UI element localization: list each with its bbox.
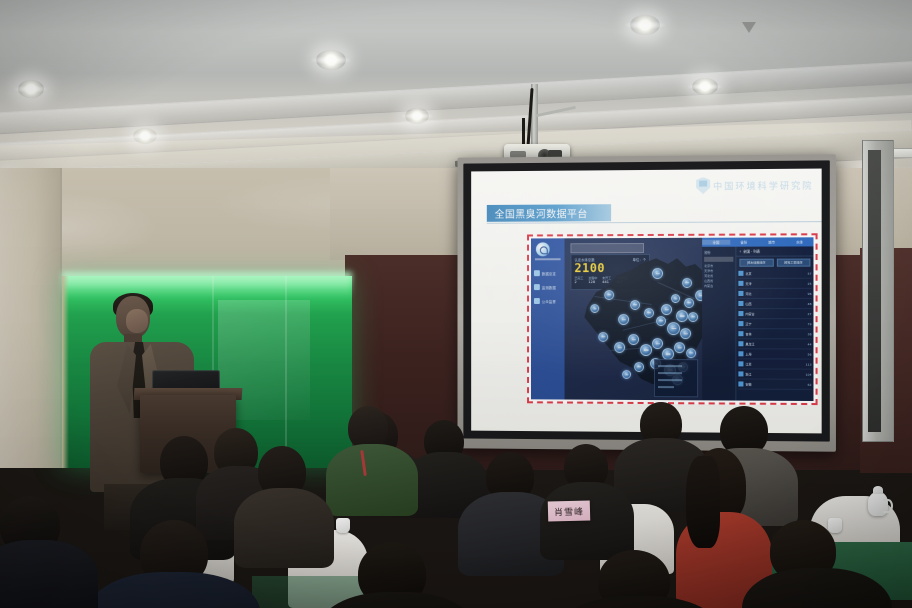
tab-province[interactable]: 省份 [730, 240, 758, 245]
app-brand-underline [535, 258, 561, 260]
audience-shoulders-photographer [326, 444, 418, 516]
row-name: 北京 [745, 271, 805, 275]
map-marker[interactable] [590, 304, 599, 313]
filter-item[interactable]: 内蒙古 [704, 284, 733, 289]
app-map-area[interactable]: 认定水体总数 单位：个 2100 已完工 2 [565, 238, 703, 401]
map-legend [654, 359, 698, 397]
list-item[interactable]: 安徽62 [738, 379, 811, 389]
province-list[interactable]: 北京57 天津25 河北96 山西48 内蒙古27 辽宁79 吉林38 黑龙江4… [736, 269, 813, 401]
legend-line [658, 372, 682, 374]
map-marker[interactable] [686, 348, 696, 358]
app-sidebar: 数据总览 监测数据 公众监督 [531, 238, 565, 399]
row-name: 安徽 [745, 382, 805, 386]
map-marker[interactable] [634, 362, 644, 372]
stat-breakdown-item: 已完工 2 [574, 276, 583, 284]
sort-by-rate-button[interactable]: 按完工率排序 [776, 259, 810, 267]
detail-panel: ‹ 全国 · 列表 按水体数排序 按完工率排序 北京57 [736, 246, 813, 401]
ceiling [0, 0, 912, 175]
downlight [316, 50, 346, 70]
chart-icon [534, 270, 540, 276]
row-icon [738, 351, 743, 356]
app-logo-icon [536, 242, 550, 256]
tab-city[interactable]: 城市 [758, 239, 786, 244]
row-value: 38 [808, 332, 812, 336]
sidebar-item-overview[interactable]: 数据总览 [534, 268, 564, 278]
map-marker[interactable] [656, 316, 666, 326]
map-marker[interactable] [622, 370, 631, 379]
sort-by-count-button[interactable]: 按水体数排序 [739, 259, 773, 267]
row-name: 江苏 [745, 362, 803, 366]
presenter-face [126, 309, 148, 333]
list-item[interactable]: 江苏113 [738, 359, 811, 369]
map-marker[interactable] [661, 304, 672, 315]
green-panel-glow [62, 272, 352, 298]
list-item[interactable]: 辽宁79 [738, 319, 811, 329]
row-icon [738, 271, 743, 276]
row-value: 79 [808, 322, 812, 326]
row-icon [738, 341, 743, 346]
right-columns: 省份 北京市 天津市 河北省 山西省 内蒙古 [702, 246, 813, 401]
slide-logo: 中国环境科学研究院 [696, 175, 813, 196]
app-tab-bar: 全国 省份 城市 水体 [702, 237, 813, 246]
map-marker[interactable] [671, 294, 680, 303]
audience-area [0, 400, 912, 608]
slide-title-bar: 全国黑臭河数据平台 [487, 204, 611, 222]
conference-photo-scene: 中国环境科学研究院 全国黑臭河数据平台 [0, 0, 912, 608]
teapot [868, 492, 888, 516]
filter-selected[interactable] [704, 257, 733, 262]
map-marker[interactable] [695, 290, 702, 301]
row-icon [738, 291, 743, 296]
row-value: 104 [806, 372, 812, 376]
map-marker[interactable] [684, 298, 694, 308]
map-marker[interactable] [644, 308, 654, 318]
sidebar-item-label: 公众监督 [542, 299, 556, 304]
map-marker[interactable] [628, 334, 639, 345]
row-value: 96 [808, 291, 812, 295]
map-marker[interactable] [667, 322, 680, 335]
audience-shoulders [88, 572, 260, 608]
row-icon [738, 301, 743, 306]
list-item[interactable]: 上海56 [738, 349, 811, 359]
sidebar-item-public[interactable]: 公众监督 [534, 296, 564, 306]
row-value: 44 [808, 342, 812, 346]
map-marker[interactable] [676, 310, 688, 322]
tab-national[interactable]: 全国 [702, 240, 730, 245]
tab-waterbody[interactable]: 水体 [786, 239, 814, 244]
stat-breakdown-item: 治理中 128 [588, 276, 597, 284]
row-icon [738, 321, 743, 326]
search-input[interactable] [570, 243, 644, 253]
row-icon [738, 331, 743, 336]
delegate-name-card: 肖雪峰 [548, 500, 591, 521]
shield-icon [696, 177, 710, 194]
list-item[interactable]: 河北96 [738, 289, 811, 299]
list-item[interactable]: 山西48 [738, 299, 811, 309]
row-name: 山西 [745, 301, 805, 305]
legend-line [658, 379, 682, 381]
sidebar-item-label: 数据总览 [542, 271, 556, 276]
map-marker[interactable] [604, 290, 614, 300]
name-card-text: 肖雪峰 [554, 504, 584, 518]
downlight [405, 108, 429, 124]
monitoring-platform-app: 数据总览 监测数据 公众监督 [531, 237, 814, 401]
list-item[interactable]: 浙江104 [738, 369, 811, 379]
map-marker[interactable] [652, 268, 663, 279]
audience-shoulders [234, 488, 334, 568]
cup [828, 518, 842, 533]
map-marker[interactable] [682, 278, 692, 288]
legend-line [658, 365, 682, 367]
app-screenshot-frame: 数据总览 监测数据 公众监督 [527, 233, 818, 405]
row-name: 上海 [745, 352, 805, 356]
filter-panel: 省份 北京市 天津市 河北省 山西省 内蒙古 [702, 247, 736, 401]
filter-header: 省份 [704, 250, 733, 255]
map-marker[interactable] [618, 314, 629, 325]
row-value: 48 [808, 301, 812, 305]
user-icon [534, 298, 540, 304]
sidebar-item-monitoring[interactable]: 监测数据 [534, 282, 564, 292]
list-item[interactable]: 天津25 [738, 279, 811, 289]
row-icon [738, 281, 743, 286]
app-right-panel: 全国 省份 城市 水体 省份 北京市 天津市 [702, 237, 813, 401]
map-marker[interactable] [674, 342, 685, 353]
legend-line [658, 386, 674, 388]
row-value: 57 [808, 271, 812, 275]
slide-title: 全国黑臭河数据平台 [487, 205, 588, 220]
clock-icon [534, 284, 540, 290]
list-item[interactable]: 黑龙江44 [738, 339, 811, 349]
map-marker[interactable] [640, 344, 652, 356]
row-name: 浙江 [745, 372, 803, 376]
row-value: 62 [808, 382, 812, 386]
row-icon [738, 371, 743, 376]
sidebar-item-label: 监测数据 [542, 285, 556, 290]
detail-panel-header: ‹ 全国 · 列表 [736, 246, 813, 256]
row-name: 吉林 [745, 332, 805, 336]
stat-breakdown-value: 2 [574, 280, 583, 284]
slide-logo-text: 中国环境科学研究院 [713, 178, 813, 192]
sprinkler-cone-icon [742, 22, 756, 33]
list-item[interactable]: 北京57 [738, 269, 811, 279]
downlight [630, 15, 660, 35]
row-name: 黑龙江 [745, 342, 805, 346]
row-value: 25 [808, 281, 812, 285]
row-icon [738, 381, 743, 386]
audience-shoulders [0, 540, 98, 608]
map-marker[interactable] [680, 328, 691, 339]
screen-surface: 中国环境科学研究院 全国黑臭河数据平台 [471, 169, 821, 434]
map-marker[interactable] [652, 338, 663, 349]
sort-buttons: 按水体数排序 按完工率排序 [736, 257, 813, 269]
stat-breakdown-value: 128 [588, 280, 597, 284]
map-marker[interactable] [630, 300, 640, 310]
row-value: 56 [808, 352, 812, 356]
row-name: 内蒙古 [745, 312, 805, 316]
row-name: 天津 [745, 281, 805, 285]
stat-breakdown-item: 未开工 441 [602, 276, 611, 284]
downlight [133, 128, 157, 144]
stat-unit: 单位：个 [632, 257, 646, 262]
detail-panel-title: 全国 · 列表 [743, 249, 760, 254]
list-item[interactable]: 吉林38 [738, 329, 811, 339]
map-marker[interactable] [598, 332, 608, 342]
back-icon[interactable]: ‹ [739, 249, 741, 254]
downlight [692, 78, 718, 95]
row-value: 27 [808, 312, 812, 316]
list-item[interactable]: 内蒙古27 [738, 309, 811, 319]
row-value: 113 [806, 362, 812, 366]
map-marker[interactable] [614, 342, 625, 353]
glass-door-pane [868, 150, 881, 432]
row-name: 河北 [745, 291, 805, 295]
row-name: 辽宁 [745, 322, 805, 326]
map-marker[interactable] [688, 312, 698, 322]
stat-breakdown-value: 441 [602, 280, 611, 284]
row-icon [738, 361, 743, 366]
audience-hair [686, 456, 720, 548]
cup [336, 518, 350, 533]
row-icon [738, 311, 743, 316]
downlight [18, 80, 44, 98]
